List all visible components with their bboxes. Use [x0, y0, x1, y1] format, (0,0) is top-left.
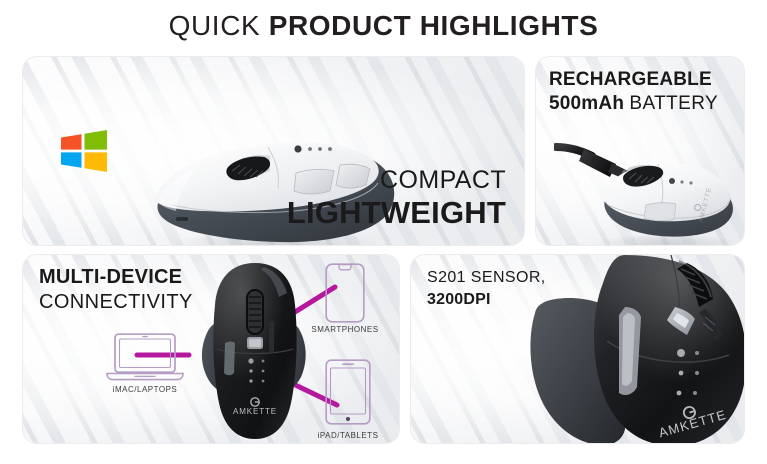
heading-battery-line1: RECHARGEABLE	[549, 68, 718, 92]
svg-text:AMKETTE: AMKETTE	[233, 407, 277, 416]
mouse-image-charging: AMKETTE	[554, 133, 745, 246]
device-label-tablets: iPAD/TABLETS	[318, 431, 379, 440]
heading-battery: RECHARGEABLE 500mAh BATTERY	[549, 68, 718, 116]
heading-battery-line2: BATTERY	[629, 93, 718, 114]
mouse-image-black-angled: AMKETTE	[529, 255, 745, 444]
heading-compact: COMPACT LIGHTWEIGHT	[287, 165, 506, 231]
mouse-image-black-top: AMKETTE	[195, 257, 315, 444]
page-title-light: QUICK	[169, 10, 261, 41]
smartphone-icon	[325, 263, 365, 323]
device-tablets: iPAD/TABLETS	[319, 359, 377, 443]
device-label-laptops: iMAC/LAPTOPS	[113, 385, 178, 394]
card-rechargeable-battery[interactable]: RECHARGEABLE 500mAh BATTERY	[535, 56, 745, 246]
heading-battery-capacity: 500mAh	[549, 93, 624, 114]
page-title-bold: PRODUCT HIGHLIGHTS	[269, 10, 599, 41]
device-smartphones: SMARTPHONES	[315, 263, 375, 345]
heading-compact-line1: COMPACT	[287, 165, 506, 195]
heading-sensor: S201 SENSOR, 3200DPI	[427, 267, 546, 311]
heading-compact-line2: LIGHTWEIGHT	[287, 195, 506, 231]
heading-sensor-line2: 3200DPI	[427, 289, 546, 311]
device-laptops: iMAC/LAPTOPS	[101, 333, 189, 403]
card-sensor-dpi[interactable]: S201 SENSOR, 3200DPI	[410, 254, 745, 444]
windows-logo-icon	[61, 129, 107, 175]
card-compact-lightweight[interactable]: COMPACT LIGHTWEIGHT	[22, 56, 525, 246]
product-highlights-infographic: QUICK PRODUCT HIGHLIGHTS	[0, 0, 767, 464]
heading-sensor-line1: S201 SENSOR,	[427, 267, 546, 289]
page-title: QUICK PRODUCT HIGHLIGHTS	[0, 9, 767, 43]
tablet-icon	[325, 359, 371, 425]
card-multi-device-connectivity[interactable]: MULTI-DEVICE CONNECTIVITY	[22, 254, 400, 444]
laptop-icon	[105, 333, 185, 381]
device-label-smartphones: SMARTPHONES	[311, 325, 378, 334]
